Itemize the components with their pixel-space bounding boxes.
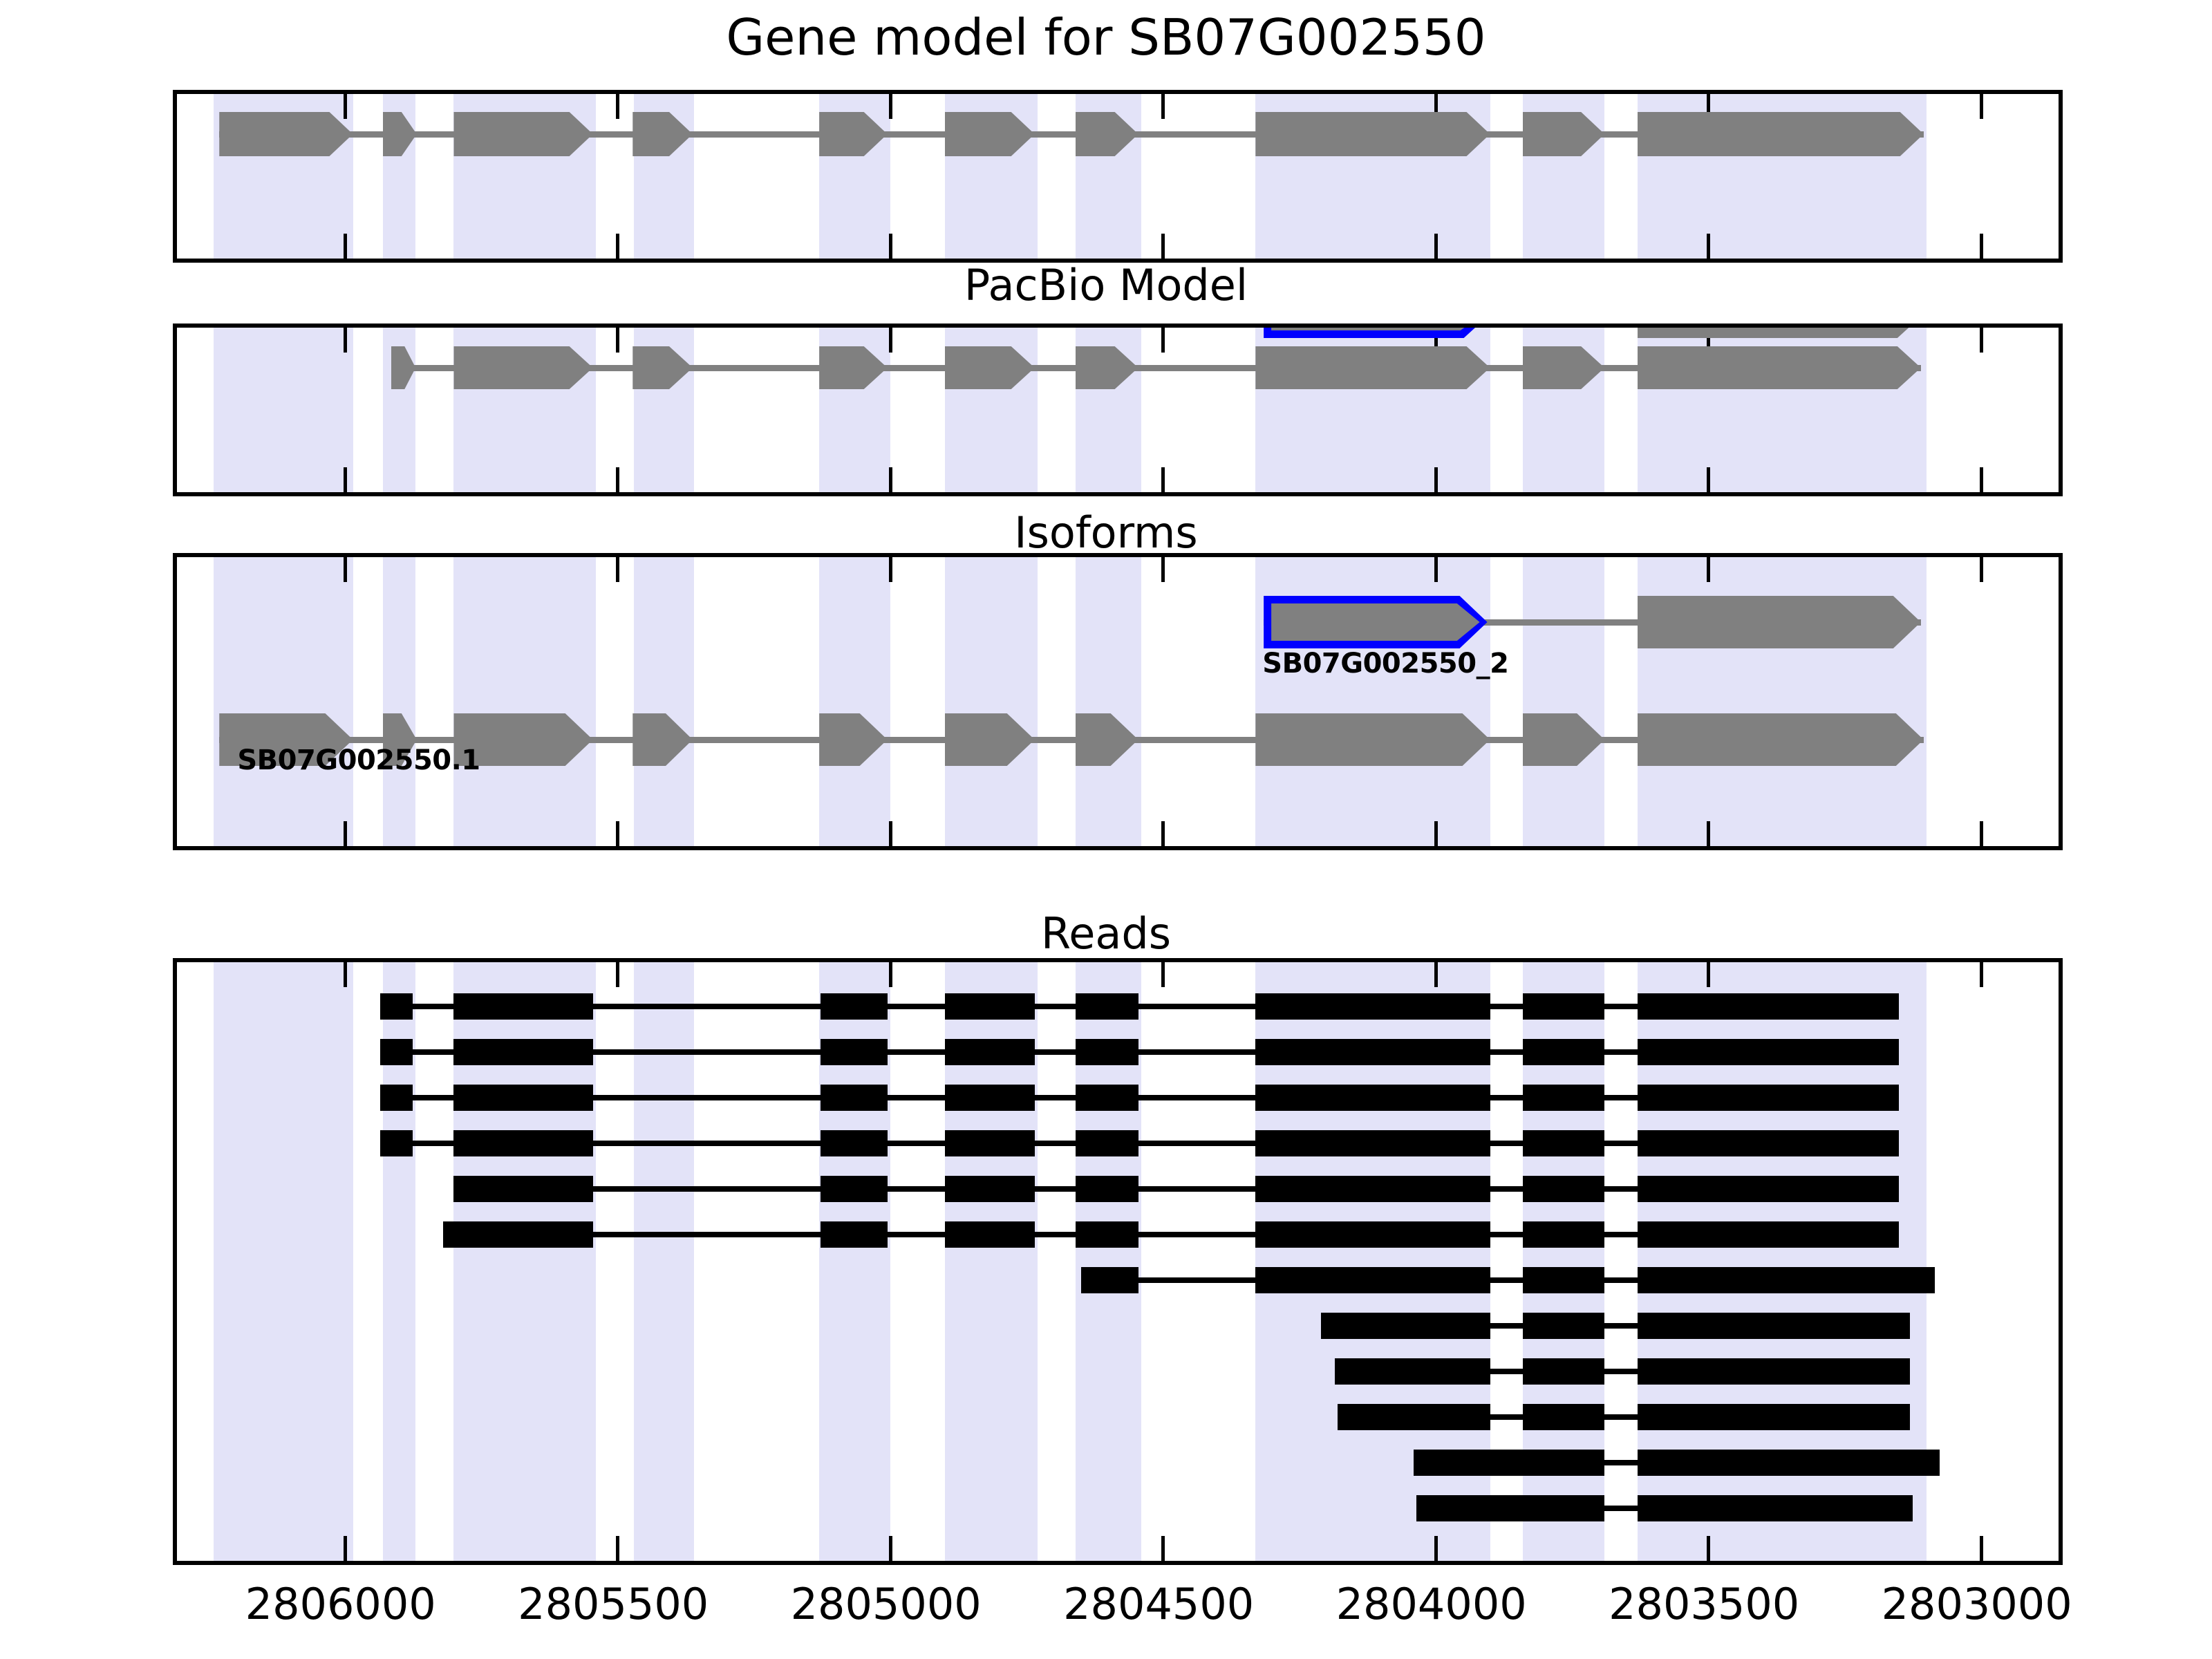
axis-tick — [1161, 234, 1165, 259]
figure-canvas: Gene model for SB07G002550 PacBio Model … — [0, 0, 2212, 1659]
read-block — [1523, 1313, 1604, 1339]
read-block — [945, 1039, 1035, 1065]
axis-tick — [1707, 962, 1710, 987]
exon-highlight-band — [819, 557, 890, 846]
read-block — [443, 1221, 593, 1248]
exon — [453, 112, 592, 156]
panel-title-isoforms: Isoforms — [0, 512, 2212, 554]
exon-highlight-band — [1076, 557, 1141, 846]
read-block — [380, 1130, 413, 1156]
read-block — [1255, 1176, 1490, 1202]
panel-pacbio-model — [173, 324, 2063, 496]
read-block — [1638, 1176, 1900, 1202]
panel-isoforms — [173, 553, 2063, 850]
read-block — [1523, 1130, 1604, 1156]
exon-inner-fill — [1271, 324, 1479, 330]
axis-tick — [344, 328, 347, 353]
panel-gene-model — [173, 90, 2063, 263]
read-block — [945, 1130, 1035, 1156]
read-block — [380, 993, 413, 1020]
read-block — [1638, 1130, 1900, 1156]
panel-title-pacbio: PacBio Model — [0, 264, 2212, 307]
axis-tick — [1980, 234, 1983, 259]
axis-tick — [1161, 467, 1165, 492]
x-tick-label: 2803000 — [1882, 1583, 2072, 1626]
read-block — [1638, 1085, 1900, 1111]
axis-tick — [344, 234, 347, 259]
exon-highlighted — [1264, 324, 1487, 338]
axis-tick — [889, 1536, 892, 1561]
read-block — [1416, 1495, 1604, 1521]
axis-tick — [1980, 1536, 1983, 1561]
axis-tick — [1161, 821, 1165, 846]
x-tick-label: 2806000 — [245, 1583, 436, 1626]
axis-tick — [1707, 1536, 1710, 1561]
main-title: Gene model for SB07G002550 — [0, 12, 2212, 62]
read-block — [945, 1176, 1035, 1202]
exon-highlight-band — [945, 557, 1038, 846]
read-block — [1076, 1039, 1138, 1065]
read-block — [1076, 1085, 1138, 1111]
read-block — [1255, 993, 1490, 1020]
read-block — [1523, 1358, 1604, 1385]
axis-tick — [1161, 557, 1165, 582]
read-block — [380, 1039, 413, 1065]
read-block — [1523, 1267, 1604, 1293]
read-block — [1638, 1221, 1900, 1248]
exon — [1638, 112, 1924, 156]
read-block — [821, 1085, 888, 1111]
axis-tick — [616, 962, 619, 987]
read-block — [945, 1085, 1035, 1111]
read-block — [1338, 1404, 1490, 1430]
read-block — [1081, 1267, 1138, 1293]
axis-tick — [344, 557, 347, 582]
read-block — [1638, 993, 1900, 1020]
axis-tick — [1161, 328, 1165, 353]
axis-tick — [889, 234, 892, 259]
axis-tick — [616, 467, 619, 492]
axis-tick — [889, 328, 892, 353]
exon-highlight-band — [1523, 557, 1604, 846]
axis-tick — [616, 328, 619, 353]
axis-tick — [1161, 962, 1165, 987]
axis-tick — [1434, 821, 1438, 846]
exon — [219, 112, 353, 156]
axis-tick — [1434, 234, 1438, 259]
axis-tick — [889, 557, 892, 582]
read-block — [1523, 1085, 1604, 1111]
read-block — [1638, 1358, 1910, 1385]
read-block — [945, 993, 1035, 1020]
read-block — [453, 1176, 592, 1202]
axis-tick — [1161, 94, 1165, 119]
x-tick-label: 2805500 — [518, 1583, 709, 1626]
read-block — [1638, 1313, 1910, 1339]
exon-highlight-band — [214, 557, 353, 846]
read-block — [1255, 1221, 1490, 1248]
read-block — [821, 1130, 888, 1156]
exon-highlight-band — [453, 557, 595, 846]
x-tick-label: 2805000 — [791, 1583, 982, 1626]
axis-tick — [616, 557, 619, 582]
panel-reads — [173, 958, 2063, 1565]
exon — [1638, 346, 1921, 389]
axis-tick — [616, 234, 619, 259]
axis-tick — [1707, 467, 1710, 492]
axis-tick — [1980, 557, 1983, 582]
read-block — [1638, 1450, 1940, 1476]
axis-tick — [616, 94, 619, 119]
exon — [453, 346, 592, 389]
read-block — [821, 1176, 888, 1202]
isoform-label-2: SB07G002550_2 — [1262, 650, 1508, 677]
read-block — [453, 1039, 592, 1065]
exon-highlighted — [1264, 596, 1487, 648]
x-tick-label: 2803500 — [1609, 1583, 1799, 1626]
read-block — [1255, 1085, 1490, 1111]
read-block — [1638, 1495, 1913, 1521]
read-block — [1638, 1039, 1900, 1065]
exon — [1255, 346, 1490, 389]
read-block — [945, 1221, 1035, 1248]
read-block — [1076, 993, 1138, 1020]
read-block — [1523, 1404, 1604, 1430]
read-block — [1255, 1039, 1490, 1065]
axis-tick — [1161, 1536, 1165, 1561]
read-block — [1255, 1130, 1490, 1156]
axis-tick — [1434, 467, 1438, 492]
exon — [1638, 324, 1921, 338]
read-block — [1523, 1176, 1604, 1202]
read-block — [1321, 1313, 1490, 1339]
read-block — [821, 1221, 888, 1248]
read-block — [1638, 1404, 1910, 1430]
axis-tick — [1980, 821, 1983, 846]
axis-tick — [616, 1536, 619, 1561]
exon-inner-fill — [1271, 603, 1479, 641]
read-block — [453, 1085, 592, 1111]
axis-tick — [1707, 557, 1710, 582]
axis-tick — [1980, 962, 1983, 987]
read-block — [1638, 1267, 1935, 1293]
axis-tick — [1434, 557, 1438, 582]
read-block — [1076, 1130, 1138, 1156]
axis-tick — [1980, 328, 1983, 353]
read-block — [453, 993, 592, 1020]
read-block — [821, 993, 888, 1020]
read-block — [1335, 1358, 1490, 1385]
read-block — [380, 1085, 413, 1111]
exon-highlight-band — [214, 328, 353, 492]
axis-tick — [889, 962, 892, 987]
read-block — [1523, 1221, 1604, 1248]
axis-tick — [344, 962, 347, 987]
read-block — [1414, 1450, 1604, 1476]
read-block — [453, 1130, 592, 1156]
read-block — [1076, 1176, 1138, 1202]
axis-tick — [616, 821, 619, 846]
axis-tick — [1707, 234, 1710, 259]
exon — [1255, 112, 1490, 156]
axis-tick — [1434, 962, 1438, 987]
exon — [1638, 713, 1924, 766]
exon-highlight-band — [383, 557, 415, 846]
isoform-label-1: SB07G002550.1 — [237, 747, 480, 774]
axis-tick — [1434, 1536, 1438, 1561]
read-block — [1523, 993, 1604, 1020]
read-block — [821, 1039, 888, 1065]
axis-tick — [889, 94, 892, 119]
exon-highlight-band — [634, 557, 694, 846]
read-block — [1523, 1039, 1604, 1065]
axis-tick — [344, 821, 347, 846]
exon-highlight-band — [214, 962, 353, 1561]
read-block — [1076, 1221, 1138, 1248]
axis-tick — [344, 1536, 347, 1561]
axis-tick — [889, 821, 892, 846]
exon — [1638, 596, 1921, 648]
read-block — [1255, 1267, 1490, 1293]
axis-tick — [1980, 467, 1983, 492]
x-tick-label: 2804500 — [1063, 1583, 1254, 1626]
panel-title-reads: Reads — [0, 912, 2212, 955]
axis-tick — [889, 467, 892, 492]
exon — [1255, 713, 1490, 766]
axis-tick — [344, 467, 347, 492]
axis-tick — [344, 94, 347, 119]
axis-tick — [1980, 94, 1983, 119]
x-tick-label: 2804000 — [1336, 1583, 1527, 1626]
axis-tick — [1707, 821, 1710, 846]
